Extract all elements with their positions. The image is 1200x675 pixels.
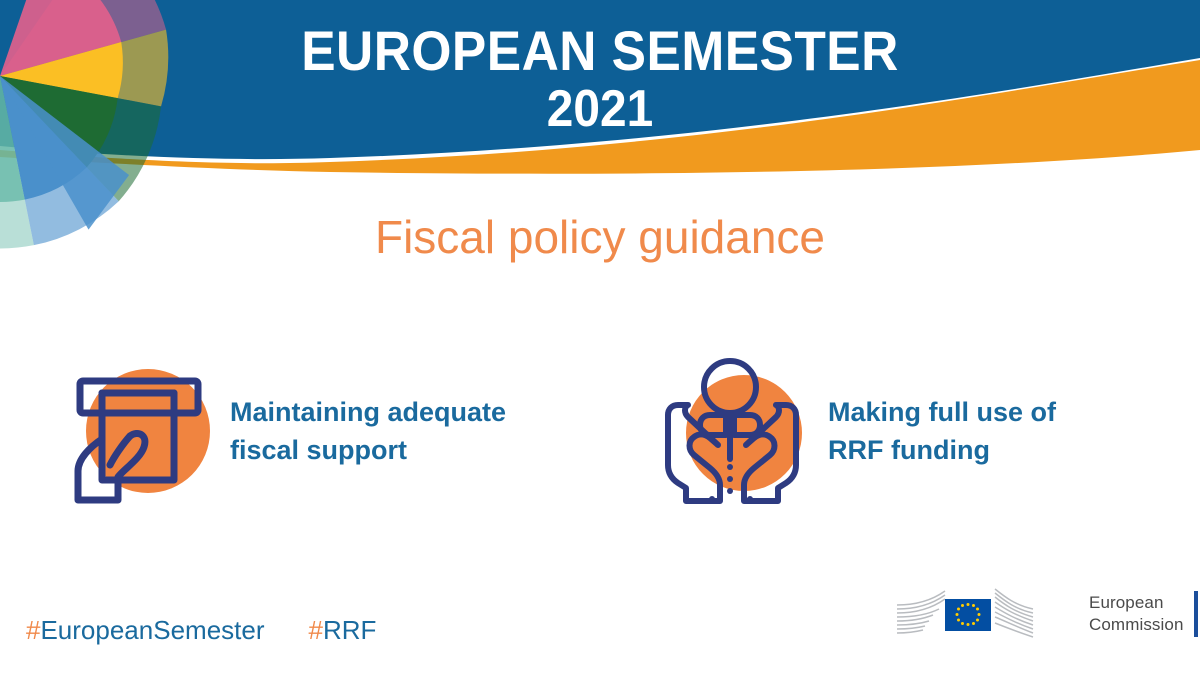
feature-item-rrf-funding: Making full use of RRF funding bbox=[660, 346, 1056, 516]
ec-wave-right bbox=[995, 589, 1033, 637]
hashtag-row: #EuropeanSemester #RRF bbox=[26, 615, 376, 646]
ec-wave-left bbox=[897, 591, 945, 633]
atm-cash-withdrawal-icon bbox=[62, 355, 214, 507]
page-title: EUROPEAN SEMESTER 2021 bbox=[0, 22, 1200, 138]
hashtag-word: RRF bbox=[323, 615, 376, 645]
title-line-2: 2021 bbox=[48, 80, 1152, 138]
feature-label: Making full use of RRF funding bbox=[828, 393, 1056, 470]
hashtag-european-semester[interactable]: #EuropeanSemester bbox=[26, 615, 265, 646]
subtitle: Fiscal policy guidance bbox=[0, 210, 1200, 264]
feature-item-fiscal-support: Maintaining adequate fiscal support bbox=[62, 346, 506, 516]
feature-row: Maintaining adequate fiscal support bbox=[0, 346, 1200, 516]
ec-logo-text: European Commission bbox=[1089, 592, 1184, 636]
european-commission-logo: European Commission bbox=[893, 583, 1175, 645]
ec-logo-mark bbox=[893, 583, 1085, 645]
feature-label: Maintaining adequate fiscal support bbox=[230, 393, 506, 470]
hands-holding-euro-plant-icon bbox=[660, 355, 812, 507]
hashtag-rrf[interactable]: #RRF bbox=[309, 615, 377, 646]
hash-symbol: # bbox=[26, 615, 40, 645]
hash-symbol: # bbox=[309, 615, 323, 645]
ec-logo-bar bbox=[1194, 591, 1198, 637]
poster-canvas: EUROPEAN SEMESTER 2021 Fiscal policy gui… bbox=[0, 0, 1200, 675]
title-line-1: EUROPEAN SEMESTER bbox=[48, 22, 1152, 80]
hashtag-word: EuropeanSemester bbox=[40, 615, 264, 645]
